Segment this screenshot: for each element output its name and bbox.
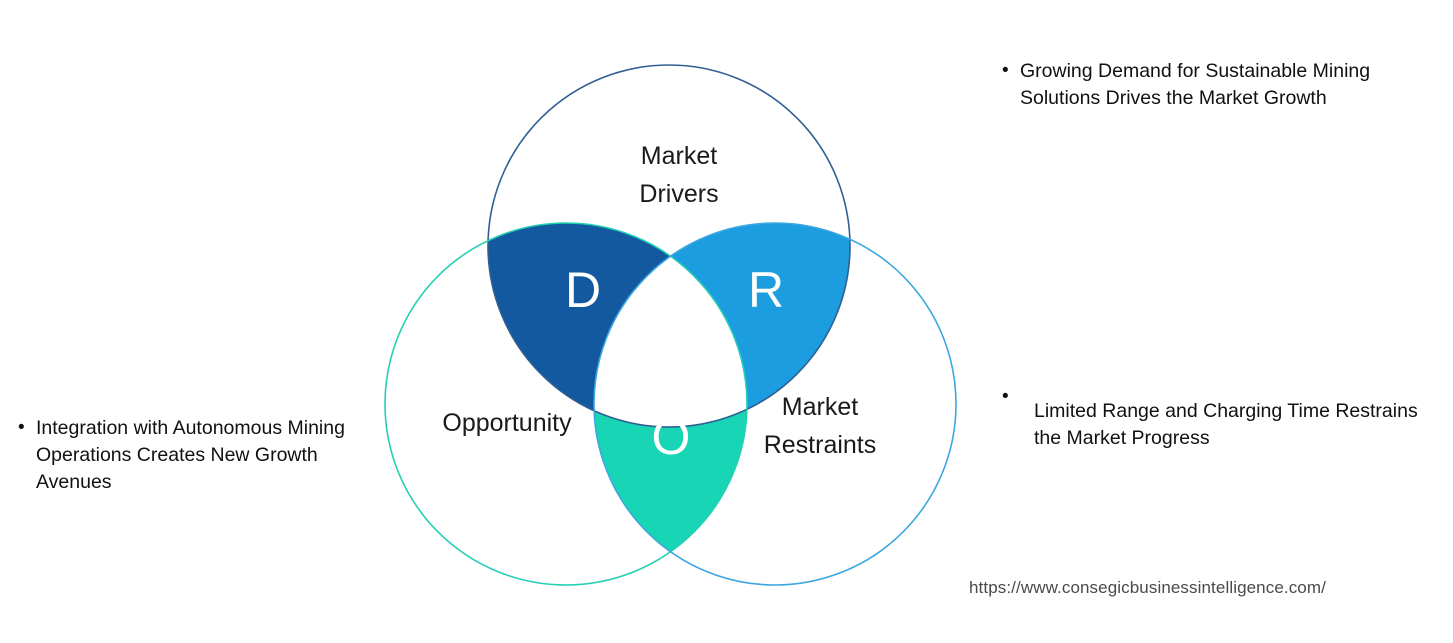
venn-overlap-drivers-restraints <box>594 223 956 585</box>
venn-label-market-restraints-line2: Restraints <box>764 431 877 459</box>
venn-letter-d: D <box>565 262 601 318</box>
callout-market-restraint: • Limited Range and Charging Time Restra… <box>1002 398 1422 452</box>
venn-letter-o: O <box>652 409 691 465</box>
infographic-canvas: D R O Market Drivers Market Restraints O… <box>0 0 1453 643</box>
source-url[interactable]: https://www.consegicbusinessintelligence… <box>969 578 1326 598</box>
venn-label-market-drivers-line2: Drivers <box>639 180 718 208</box>
venn-label-opportunity: Opportunity <box>442 409 572 437</box>
venn-circle-market-drivers <box>488 65 850 427</box>
bullet-icon: • <box>1002 58 1020 84</box>
venn-circle-opportunity <box>385 223 747 585</box>
callout-opportunity-text: Integration with Autonomous Mining Opera… <box>36 415 388 496</box>
bullet-icon: • <box>18 415 36 441</box>
callout-market-restraint-text: Limited Range and Charging Time Restrain… <box>1034 398 1422 452</box>
callout-market-driver-text: Growing Demand for Sustainable Mining So… <box>1020 58 1422 112</box>
venn-overlap-drivers-opportunity <box>385 223 747 585</box>
venn-label-market-restraints-line1: Market <box>782 393 858 421</box>
callout-opportunity: • Integration with Autonomous Mining Ope… <box>18 415 388 496</box>
bullet-icon: • <box>1002 384 1034 410</box>
callout-market-driver: • Growing Demand for Sustainable Mining … <box>1002 58 1422 112</box>
venn-overlap-opportunity-restraints <box>594 223 956 585</box>
venn-circle-market-restraints <box>594 223 956 585</box>
venn-label-market-drivers-line1: Market <box>641 142 717 170</box>
venn-letter-r: R <box>748 262 784 318</box>
